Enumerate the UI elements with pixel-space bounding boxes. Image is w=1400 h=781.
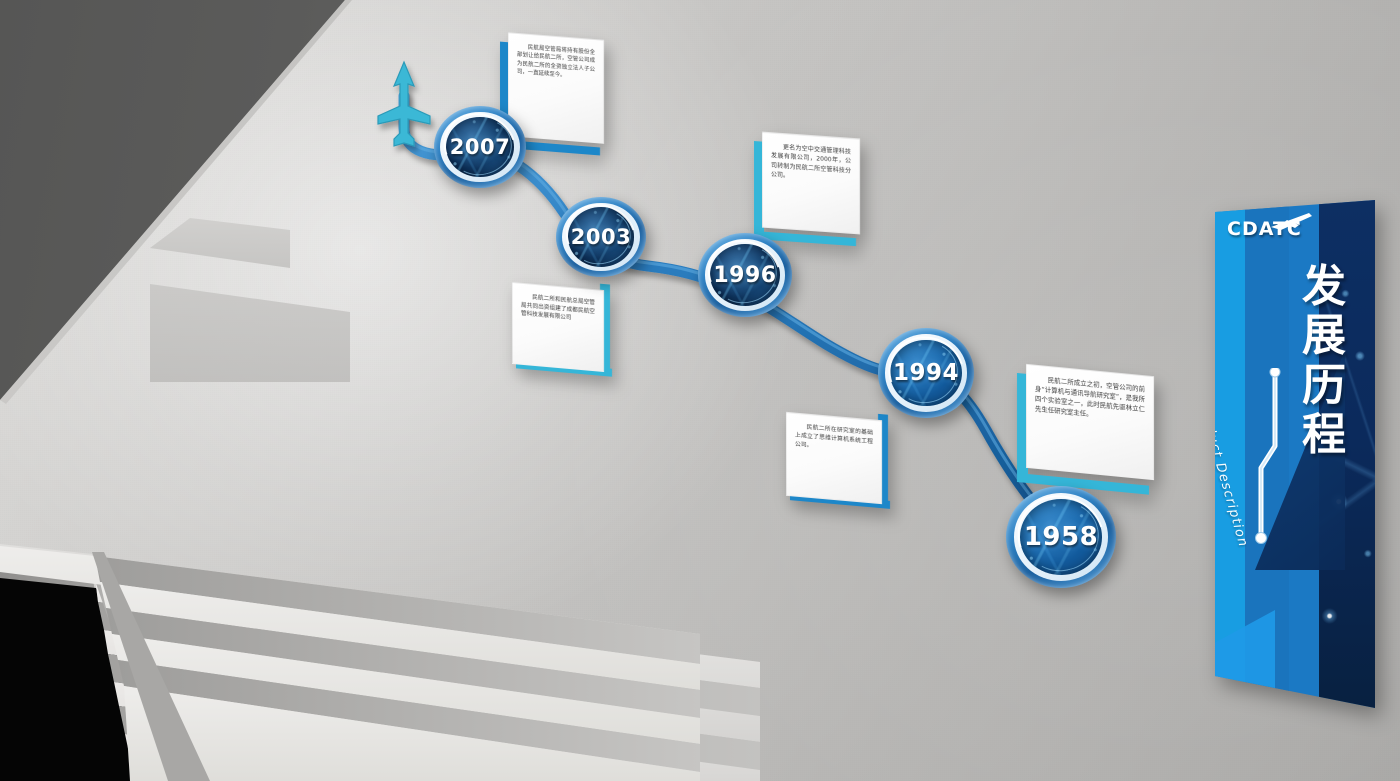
card-text: 民航二所成立之初，空管公司的前身“计算机与通讯导航研究室”，是我所四个实验室之一…	[1026, 364, 1154, 480]
timeline-card-1958[interactable]: 民航二所成立之初，空管公司的前身“计算机与通讯导航研究室”，是我所四个实验室之一…	[1026, 364, 1154, 480]
node-year-label: 2007	[450, 135, 510, 159]
timeline-node-1996[interactable]: 1996	[698, 233, 792, 317]
banner-title-cn: 发展历程	[1291, 262, 1357, 459]
timeline-card-1996[interactable]: 更名为空中交通管理科技发展有限公司，2000年，公司转制为民航二所空管科技分公司…	[762, 132, 860, 235]
card-text: 民航局空管局将持有股份全部划让给民航二所，空管公司成为民航二所的全资独立法人子公…	[508, 32, 604, 144]
node-year-label: 1996	[713, 263, 776, 288]
timeline-node-2007[interactable]: 2007	[434, 106, 526, 188]
banner-panel: CDATC 发展历程 Product Description	[1205, 200, 1385, 720]
card-text: 更名为空中交通管理科技发展有限公司，2000年，公司转制为民航二所空管科技分公司…	[762, 132, 860, 235]
card-text: 民航二所和民航总局空管局共同出资组建了成都民航空管科技发展有限公司	[512, 282, 604, 372]
banner-title-glyph: 展	[1291, 311, 1357, 360]
cdatc-logo: CDATC	[1227, 218, 1337, 248]
node-year-label: 2003	[571, 225, 631, 249]
node-year-label: 1958	[1024, 522, 1098, 552]
card-text: 民航二所在研究室的基础上成立了思维计算机系统工程公司。	[786, 412, 882, 504]
banner-title-glyph: 历	[1291, 361, 1357, 410]
timeline-card-1994[interactable]: 民航二所在研究室的基础上成立了思维计算机系统工程公司。	[786, 412, 882, 504]
timeline-node-1958[interactable]: 1958	[1006, 486, 1116, 588]
circuit-trace-icon	[1249, 368, 1289, 628]
banner-title-glyph: 程	[1291, 410, 1357, 459]
timeline-card-2007[interactable]: 民航局空管局将持有股份全部划让给民航二所，空管公司成为民航二所的全资独立法人子公…	[508, 32, 604, 144]
timeline-card-2003[interactable]: 民航二所和民航总局空管局共同出资组建了成都民航空管科技发展有限公司	[512, 282, 604, 372]
concrete-staircase	[0, 520, 760, 781]
scene-root: 2007 2003 1996 1994 1958	[0, 0, 1400, 781]
timeline-node-1994[interactable]: 1994	[878, 328, 974, 418]
node-year-label: 1994	[893, 360, 959, 386]
banner-title-glyph: 发	[1291, 262, 1357, 311]
airplane-icon	[1269, 211, 1315, 233]
timeline-node-2003[interactable]: 2003	[556, 197, 646, 277]
wall-banner[interactable]: CDATC 发展历程 Product Description	[1205, 200, 1385, 720]
